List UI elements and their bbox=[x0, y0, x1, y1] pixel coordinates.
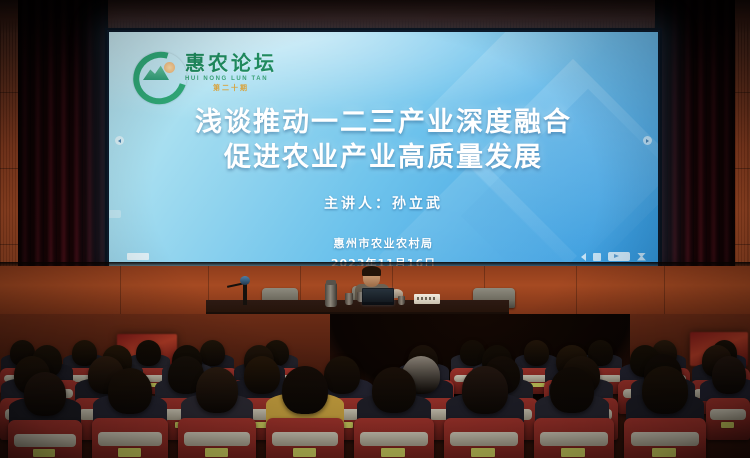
slide-nav-next-icon[interactable] bbox=[643, 136, 652, 145]
presentation-slide[interactable]: 惠农论坛 HUI NONG LUN TAN 第二十期 浅谈推动一二三产业深度融合… bbox=[109, 32, 658, 266]
audience-head bbox=[462, 366, 508, 414]
seat-headrest bbox=[14, 434, 76, 448]
audience-head bbox=[282, 366, 328, 414]
seat-number-plate bbox=[205, 448, 228, 457]
slide-bottom-badge bbox=[127, 253, 149, 260]
slide-title: 浅谈推动一二三产业深度融合 促进农业产业高质量发展 bbox=[109, 106, 658, 175]
audience-head bbox=[372, 367, 416, 413]
slide-corner-icon bbox=[109, 210, 121, 218]
previous-slide-icon[interactable] bbox=[581, 253, 586, 261]
audience-head bbox=[712, 356, 746, 394]
thermos-flask bbox=[325, 283, 337, 307]
slide-organization: 惠州市农业农村局 bbox=[109, 235, 658, 251]
auditorium-seat bbox=[624, 418, 706, 458]
audience-seat-group bbox=[706, 368, 750, 440]
pen-tool-icon[interactable] bbox=[593, 253, 601, 261]
audience-head bbox=[196, 367, 238, 413]
auditorium-seat bbox=[534, 418, 614, 458]
seat-headrest bbox=[710, 409, 747, 420]
slideshow-play-icon[interactable] bbox=[608, 252, 630, 261]
auditorium-seat bbox=[266, 418, 344, 458]
auditorium-seat bbox=[8, 420, 82, 458]
microphone-icon bbox=[243, 281, 247, 305]
logo-sun bbox=[164, 62, 175, 73]
audience-seat-group bbox=[8, 388, 82, 458]
audience-seating bbox=[0, 318, 750, 458]
seat-number-plate bbox=[561, 448, 585, 457]
audience-seat-group bbox=[444, 384, 524, 458]
audience-seat-group bbox=[266, 384, 344, 458]
seat-number-plate bbox=[471, 448, 495, 457]
drinking-cup bbox=[345, 293, 353, 305]
slide-nav-prev-icon[interactable] bbox=[115, 136, 124, 145]
logo-chinese-name: 惠农论坛 bbox=[185, 53, 277, 73]
audience-seat-group bbox=[534, 382, 614, 458]
seat-headrest bbox=[272, 432, 338, 446]
seat-headrest bbox=[540, 432, 607, 446]
more-options-icon[interactable] bbox=[637, 253, 646, 261]
audience-seat-group bbox=[354, 382, 434, 458]
leaf-circle-logo-icon bbox=[131, 50, 179, 94]
laptop-computer bbox=[362, 288, 394, 305]
seat-headrest bbox=[184, 432, 250, 446]
audience-head bbox=[24, 372, 66, 416]
seat-number-plate bbox=[33, 449, 55, 457]
slide-text-block: 浅谈推动一二三产业深度融合 促进农业产业高质量发展 主讲人：孙立武 惠州市农业农… bbox=[109, 106, 658, 266]
seat-number-plate bbox=[652, 448, 677, 457]
audience-head bbox=[108, 368, 152, 414]
slide-speaker: 主讲人：孙立武 bbox=[109, 193, 658, 213]
seat-headrest bbox=[360, 432, 427, 446]
auditorium-seat bbox=[706, 398, 750, 440]
seat-number-plate bbox=[381, 448, 405, 457]
auditorium-seat bbox=[354, 418, 434, 458]
logo-text-block: 惠农论坛 HUI NONG LUN TAN 第二十期 bbox=[185, 53, 277, 92]
slide-title-line1: 浅谈推动一二三产业深度融合 bbox=[195, 107, 572, 138]
seat-headrest bbox=[631, 432, 700, 446]
desk-nameplate bbox=[414, 294, 440, 304]
drinking-cup bbox=[398, 296, 405, 305]
seat-headrest bbox=[450, 432, 517, 446]
audience-seat-group bbox=[178, 382, 256, 458]
conference-hall-photo: 惠农论坛 HUI NONG LUN TAN 第二十期 浅谈推动一二三产业深度融合… bbox=[0, 0, 750, 458]
audience-seat-group bbox=[624, 384, 706, 458]
slide-title-line2: 促进农业产业高质量发展 bbox=[109, 141, 658, 176]
auditorium-seat bbox=[92, 418, 168, 458]
speaker-hair bbox=[362, 266, 381, 276]
microphone-head bbox=[240, 276, 250, 285]
audience-head bbox=[550, 367, 594, 413]
powerpoint-toolbar[interactable] bbox=[581, 252, 646, 261]
seat-number-plate bbox=[721, 422, 734, 429]
audience-seat-group bbox=[92, 384, 168, 458]
audience-head bbox=[642, 366, 688, 414]
auditorium-seat bbox=[444, 418, 524, 458]
seat-headrest bbox=[98, 432, 162, 446]
seat-number-plate bbox=[293, 448, 316, 457]
seat-number-plate bbox=[118, 448, 141, 457]
auditorium-seat bbox=[178, 418, 256, 458]
projection-screen[interactable]: 惠农论坛 HUI NONG LUN TAN 第二十期 浅谈推动一二三产业深度融合… bbox=[105, 28, 662, 270]
forum-logo: 惠农论坛 HUI NONG LUN TAN 第二十期 bbox=[131, 50, 277, 94]
logo-edition: 第二十期 bbox=[185, 85, 277, 92]
logo-pinyin: HUI NONG LUN TAN bbox=[185, 76, 277, 82]
